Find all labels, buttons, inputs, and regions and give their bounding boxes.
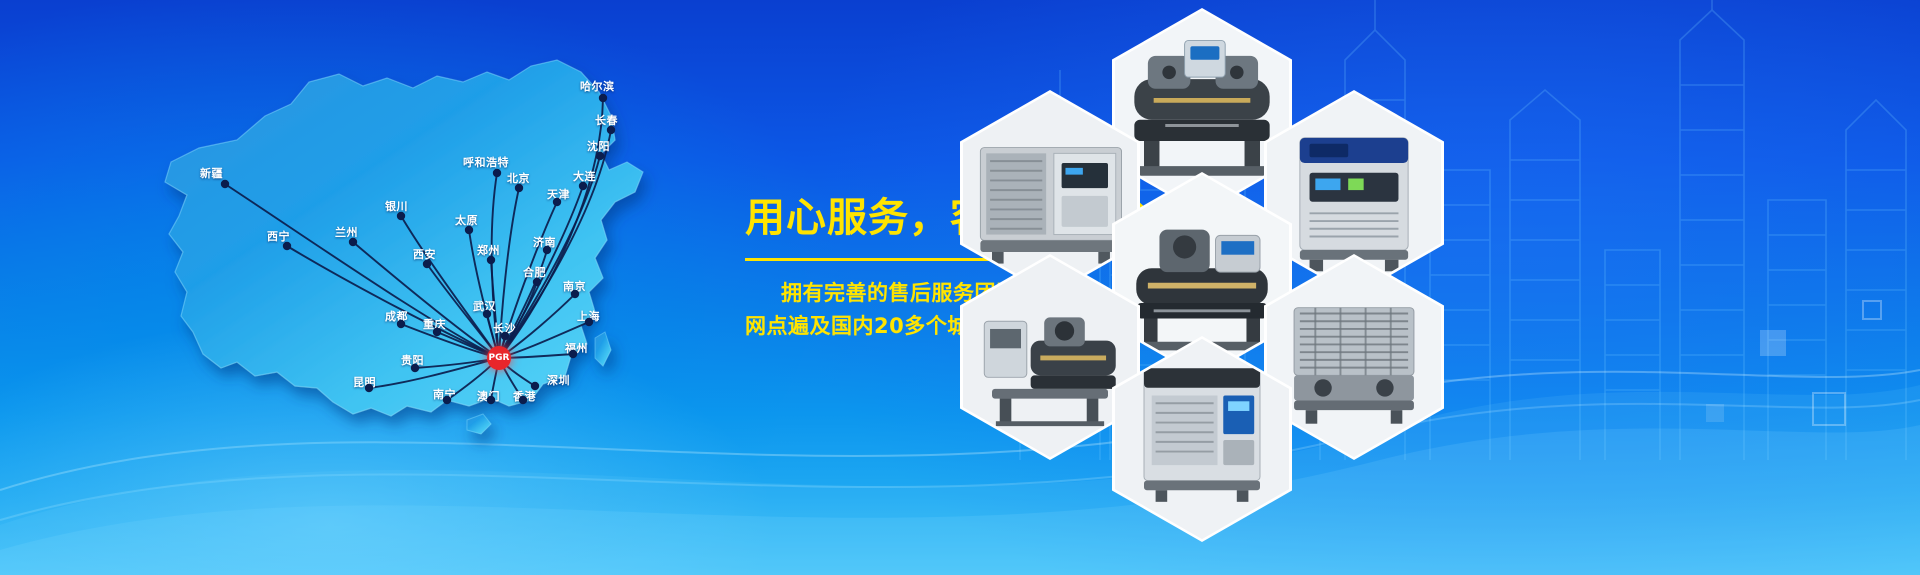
city-dot[interactable] <box>571 290 579 298</box>
city-dot[interactable] <box>423 260 431 268</box>
city-dot[interactable] <box>221 180 229 188</box>
city-dot[interactable] <box>365 384 373 392</box>
cabinet-chiller-icon <box>1115 339 1289 539</box>
city-dots-svg <box>95 20 715 440</box>
city-dot[interactable] <box>487 256 495 264</box>
hub-marker-badge[interactable]: PGR <box>487 346 511 370</box>
city-dot[interactable] <box>433 328 441 336</box>
decor-square-4 <box>1862 300 1882 320</box>
city-dot[interactable] <box>501 332 509 340</box>
hex-inner-6 <box>1267 257 1441 457</box>
city-dot[interactable] <box>283 242 291 250</box>
city-dot[interactable] <box>483 310 491 318</box>
hex-inner-5 <box>963 257 1137 457</box>
city-dot[interactable] <box>397 212 405 220</box>
city-dot[interactable] <box>397 320 405 328</box>
screw-compressor-unit-icon <box>963 257 1137 457</box>
decor-square-1 <box>1760 330 1786 356</box>
city-dot[interactable] <box>443 396 451 404</box>
city-dot[interactable] <box>533 278 541 286</box>
china-distribution-map: 哈尔滨长春沈阳呼和浩特北京天津大连新疆银川太原兰州西宁西安郑州济南合肥南京上海武… <box>95 20 715 440</box>
decor-square-3 <box>1706 404 1724 422</box>
hex-inner-7 <box>1115 339 1289 539</box>
city-dot[interactable] <box>569 350 577 358</box>
city-dot[interactable] <box>349 238 357 246</box>
city-dot[interactable] <box>607 126 615 134</box>
city-dot[interactable] <box>411 364 419 372</box>
city-dot[interactable] <box>493 169 501 177</box>
decor-square-2 <box>1812 392 1846 426</box>
city-dot[interactable] <box>543 246 551 254</box>
city-dot[interactable] <box>596 152 604 160</box>
city-dot[interactable] <box>579 182 587 190</box>
city-dot[interactable] <box>585 318 593 326</box>
promo-banner: 哈尔滨长春沈阳呼和浩特北京天津大连新疆银川太原兰州西宁西安郑州济南合肥南京上海武… <box>0 0 1920 575</box>
city-dot[interactable] <box>519 396 527 404</box>
finned-condenser-unit-icon <box>1267 257 1441 457</box>
city-dot[interactable] <box>599 94 607 102</box>
city-dot[interactable] <box>553 198 561 206</box>
product-hex-gallery <box>960 0 1600 470</box>
city-dot[interactable] <box>487 396 495 404</box>
city-dot[interactable] <box>515 184 523 192</box>
city-dot[interactable] <box>465 226 473 234</box>
city-dot[interactable] <box>531 382 539 390</box>
